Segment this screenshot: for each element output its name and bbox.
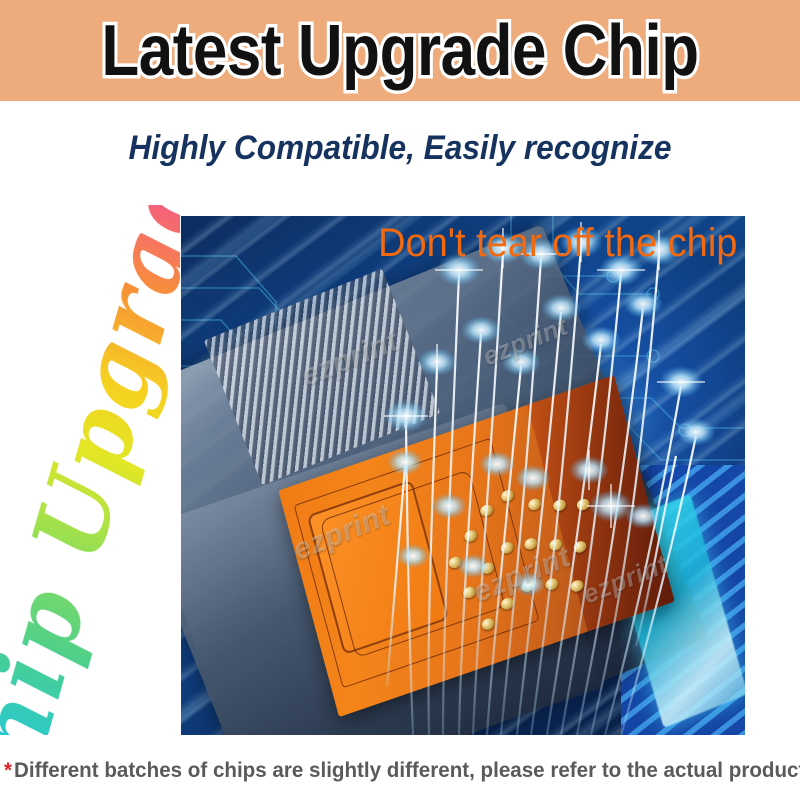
contact-pad <box>500 488 515 503</box>
product-banner-page: Latest Upgrade Chip Highly Compatible, E… <box>0 0 800 800</box>
contact-pad <box>462 584 477 599</box>
contact-pad <box>520 578 535 593</box>
side-script-rotator: Chip Upgrade <box>0 205 180 735</box>
contact-pad <box>544 577 559 592</box>
side-script-text: Chip Upgrade <box>0 205 180 735</box>
contact-pad <box>464 529 479 544</box>
contact-pad <box>570 579 585 594</box>
page-title: Latest Upgrade Chip <box>56 8 744 94</box>
product-photo: ezprint ezprint ezprint ezprint ezprint … <box>181 216 745 735</box>
contact-pad <box>481 616 496 631</box>
contact-pad <box>523 536 538 551</box>
contact-pad <box>552 498 567 513</box>
footer-disclaimer-text: Different batches of chips are slightly … <box>14 759 800 782</box>
asterisk-icon: * <box>4 759 12 782</box>
contact-pad <box>573 539 588 554</box>
contact-pad <box>548 538 563 553</box>
subtitle: Highly Compatible, Easily recognize <box>28 125 772 171</box>
contact-pad <box>500 540 515 555</box>
contact-pad <box>576 497 591 512</box>
side-script-decoration: Chip Upgrade <box>0 205 180 735</box>
contact-pad <box>479 503 494 518</box>
contact-pad <box>448 555 463 570</box>
contact-pad <box>527 496 542 511</box>
contact-pad <box>481 561 496 576</box>
header-banner: Latest Upgrade Chip <box>0 0 800 101</box>
contact-pad <box>500 596 515 611</box>
footer-disclaimer: *Different batches of chips are slightly… <box>4 756 784 786</box>
photo-caption: Don't tear off the chip <box>209 218 745 268</box>
